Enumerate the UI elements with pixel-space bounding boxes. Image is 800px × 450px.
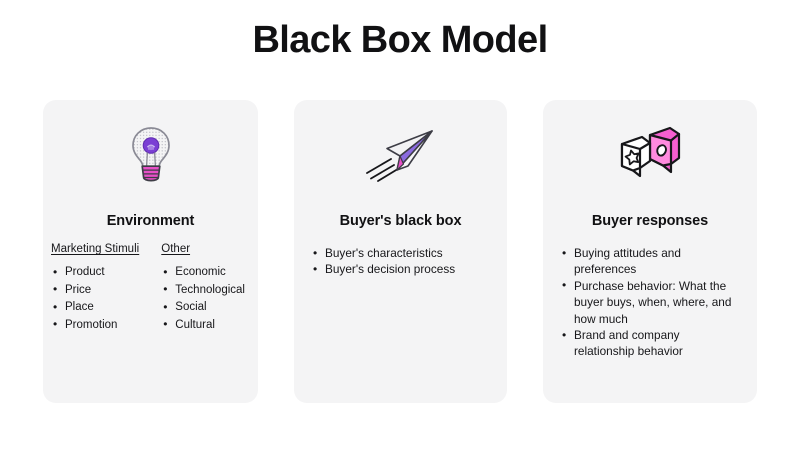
speech-bubbles-icon <box>543 100 757 190</box>
list-item: Buyer's characteristics <box>310 245 491 261</box>
lightbulb-icon <box>43 100 258 190</box>
card-heading: Environment <box>43 213 258 229</box>
card-environment: Environment Marketing Stimuli Product Pr… <box>43 100 258 403</box>
list-item: Technological <box>161 282 250 299</box>
page-title: Black Box Model <box>0 20 800 62</box>
card-heading: Buyer's black box <box>294 213 507 229</box>
cards-container: Environment Marketing Stimuli Product Pr… <box>43 100 757 403</box>
list-item: Buyer's decision process <box>310 261 491 277</box>
list-item: Promotion <box>51 317 151 334</box>
list-item: Social <box>161 299 250 316</box>
bullet-list: Product Price Place Promotion <box>51 264 151 333</box>
card-heading: Buyer responses <box>543 213 757 229</box>
card-body: Buyer's characteristics Buyer's decision… <box>294 245 507 278</box>
list-item: Cultural <box>161 317 250 334</box>
column-title: Other <box>161 243 250 255</box>
bullet-list: Economic Technological Social Cultural <box>161 264 250 333</box>
list-item: Product <box>51 264 151 281</box>
list-item: Brand and company relationship behavior <box>559 327 741 360</box>
bullet-list: Buying attitudes and preferences Purchas… <box>559 245 741 360</box>
card-buyer-responses: Buyer responses Buying attitudes and pre… <box>543 100 757 403</box>
list-item: Price <box>51 282 151 299</box>
paper-plane-icon <box>294 100 507 190</box>
column-title: Marketing Stimuli <box>51 243 151 255</box>
list-item: Buying attitudes and preferences <box>559 245 741 278</box>
list-item: Purchase behavior: What the buyer buys, … <box>559 278 741 327</box>
list-item: Place <box>51 299 151 316</box>
list-item: Economic <box>161 264 250 281</box>
card-body: Buying attitudes and preferences Purchas… <box>543 245 757 360</box>
card-buyers-black-box: Buyer's black box Buyer's characteristic… <box>294 100 507 403</box>
column-other: Other Economic Technological Social Cult… <box>161 243 250 334</box>
bullet-list: Buyer's characteristics Buyer's decision… <box>310 245 491 278</box>
column-marketing-stimuli: Marketing Stimuli Product Price Place Pr… <box>51 243 151 334</box>
environment-columns: Marketing Stimuli Product Price Place Pr… <box>43 243 258 334</box>
